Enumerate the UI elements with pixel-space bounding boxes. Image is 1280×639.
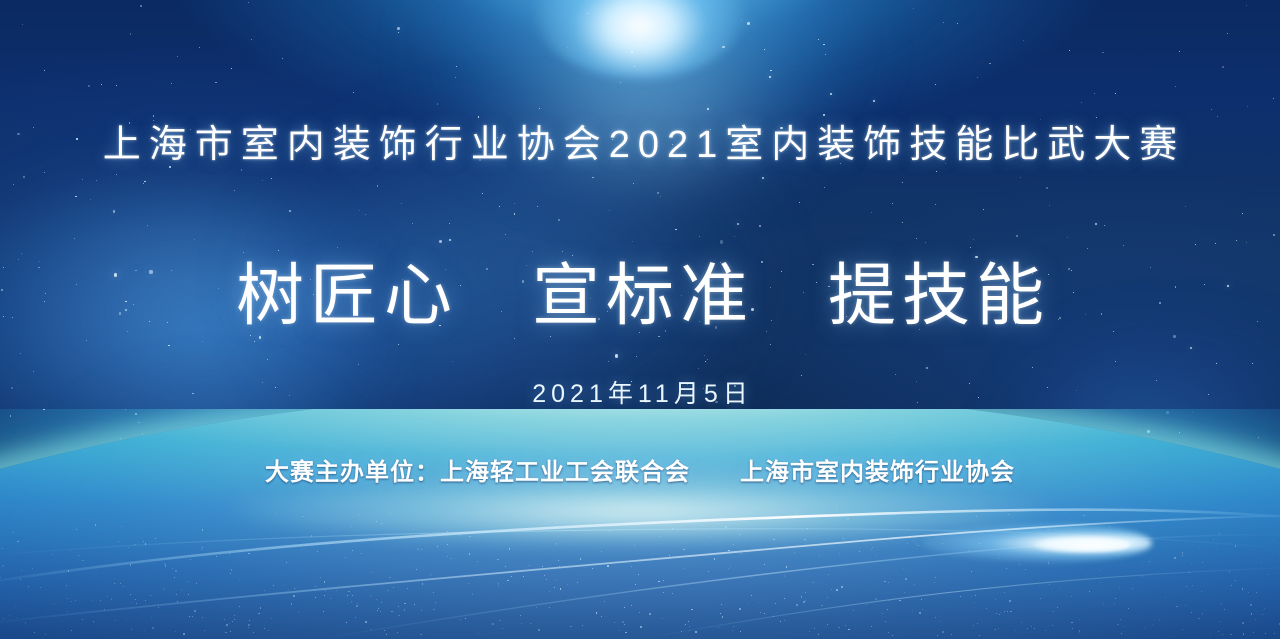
event-slogan: 树匠心 宣标准 提技能 xyxy=(0,240,1280,339)
event-organizers: 大赛主办单位：上海轻工业工会联合会 上海市室内装饰行业协会 xyxy=(0,452,1280,487)
banner-content: 上海市室内装饰行业协会2021室内装饰技能比武大赛 树匠心 宣标准 提技能 20… xyxy=(0,0,1280,639)
event-date: 2021年11月5日 xyxy=(0,374,1280,410)
event-title: 上海市室内装饰行业协会2021室内装饰技能比武大赛 xyxy=(0,113,1280,168)
event-banner: 上海市室内装饰行业协会2021室内装饰技能比武大赛 树匠心 宣标准 提技能 20… xyxy=(0,0,1280,639)
